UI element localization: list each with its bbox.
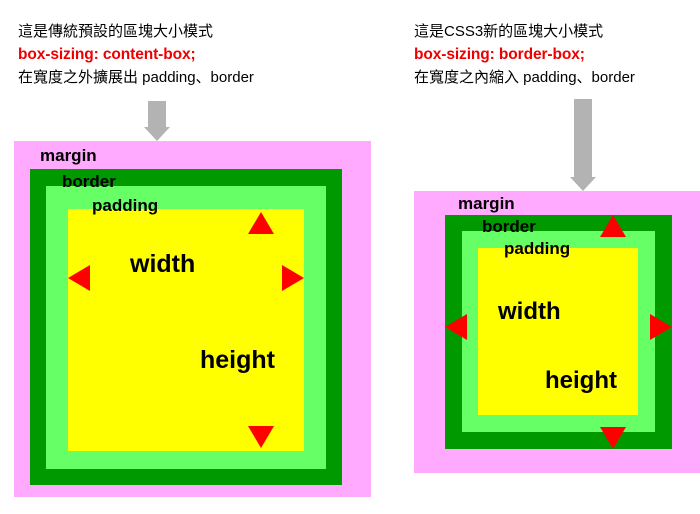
height-measure-arrow [248, 212, 274, 448]
border-label: border [62, 173, 116, 190]
arrow-head-down [600, 427, 626, 449]
caption-left-code: box-sizing: content-box; [18, 43, 254, 66]
diagram-canvas: 這是傳統預設的區塊大小模式 box-sizing: content-box; 在… [0, 0, 700, 514]
padding-label: padding [504, 240, 570, 257]
width-label: width [130, 250, 195, 279]
caption-content-box: 這是傳統預設的區塊大小模式 box-sizing: content-box; 在… [18, 20, 254, 89]
caption-left-line1: 這是傳統預設的區塊大小模式 [18, 20, 254, 43]
arrow-head [570, 177, 596, 191]
down-arrow-icon [574, 99, 592, 191]
arrow-head-left [68, 265, 90, 291]
arrow-head [144, 127, 170, 141]
height-label: height [200, 346, 275, 375]
caption-right-code: box-sizing: border-box; [414, 43, 635, 66]
margin-label: margin [40, 147, 97, 164]
arrow-shaft [148, 101, 166, 128]
box-model-border-box: margin border padding width height [414, 191, 700, 473]
arrow-shaft [574, 99, 592, 178]
caption-border-box: 這是CSS3新的區塊大小模式 box-sizing: border-box; 在… [414, 20, 635, 89]
arrow-head-up [600, 215, 626, 237]
arrow-head-left [445, 314, 467, 340]
height-label: height [545, 367, 617, 395]
caption-right-line1: 這是CSS3新的區塊大小模式 [414, 20, 635, 43]
arrow-head-right [282, 265, 304, 291]
arrow-head-right [650, 314, 672, 340]
border-label: border [482, 218, 536, 235]
width-label: width [498, 298, 561, 326]
down-arrow-icon [148, 101, 166, 141]
margin-label: margin [458, 195, 515, 212]
caption-right-line3: 在寬度之內縮入 padding、border [414, 66, 635, 89]
arrow-head-down [248, 426, 274, 448]
padding-label: padding [92, 197, 158, 214]
box-model-content-box: margin border padding width height [14, 141, 371, 497]
caption-left-line3: 在寬度之外擴展出 padding、border [18, 66, 254, 89]
height-measure-arrow [600, 215, 626, 449]
arrow-head-up [248, 212, 274, 234]
